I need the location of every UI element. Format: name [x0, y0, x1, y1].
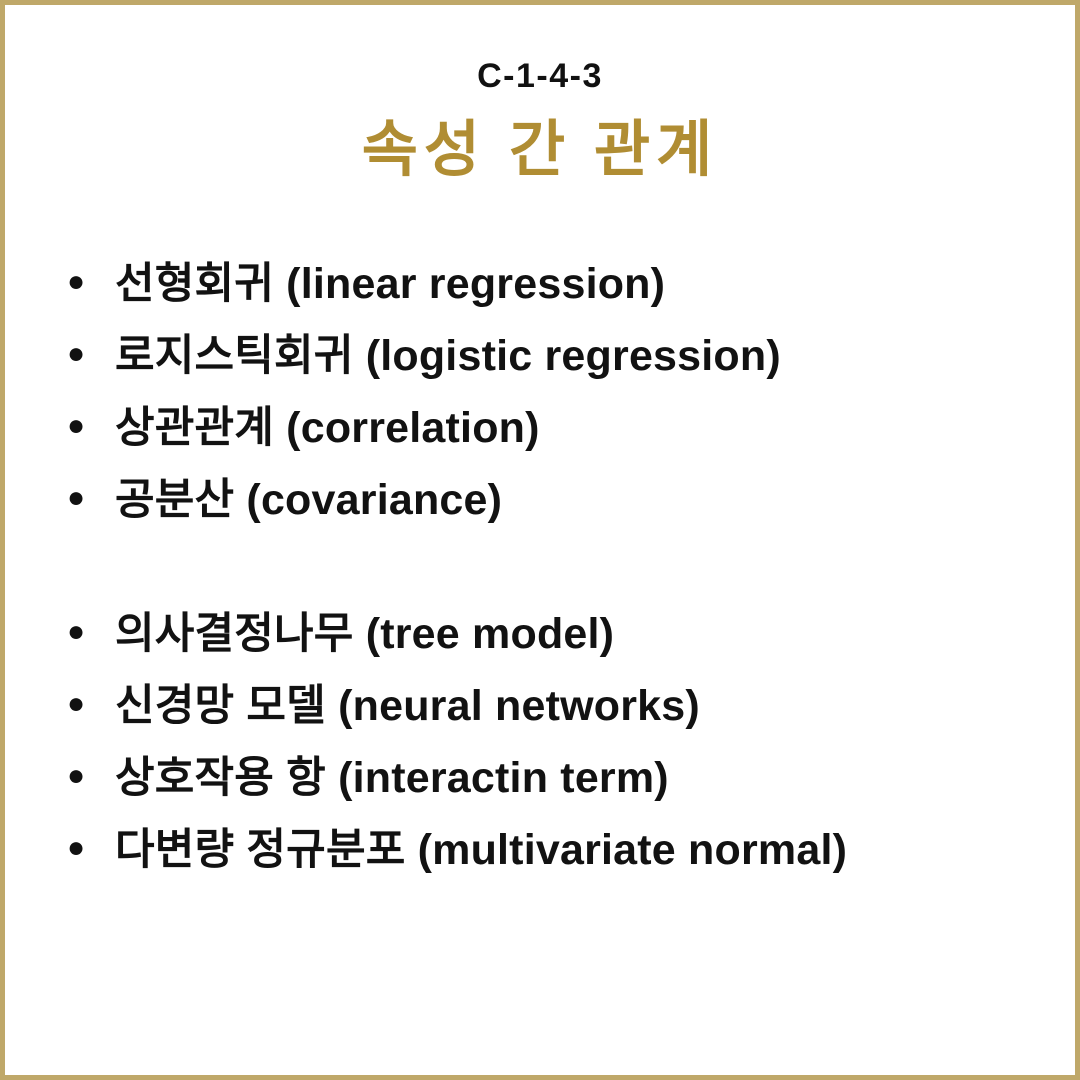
bullet-group-two: ● 의사결정나무 (tree model) ● 신경망 모델 (neural n…: [5, 613, 1080, 901]
list-item-label: 로지스틱회귀 (logistic regression): [115, 335, 781, 378]
slide-body: ● 선형회귀 (linear regression) ● 로지스틱회귀 (log…: [5, 263, 1080, 901]
list-item: ● 의사결정나무 (tree model): [5, 613, 1080, 685]
list-item-label: 신경망 모델 (neural networks): [115, 685, 700, 728]
list-item-label: 선형회귀 (linear regression): [115, 263, 665, 306]
bullet-dot-icon: ●: [67, 411, 115, 441]
list-item: ● 상호작용 항 (interactin term): [5, 757, 1080, 829]
list-item-label: 의사결정나무 (tree model): [115, 613, 614, 656]
bullet-dot-icon: ●: [67, 617, 115, 647]
list-item: ● 신경망 모델 (neural networks): [5, 685, 1080, 757]
list-item: ● 다변량 정규분포 (multivariate normal): [5, 829, 1080, 901]
slide-code-label: C-1-4-3: [5, 59, 1075, 93]
bullet-dot-icon: ●: [67, 483, 115, 513]
page-title: 속성 간 관계: [5, 93, 1075, 181]
list-item: ● 상관관계 (correlation): [5, 407, 1080, 479]
bullet-dot-icon: ●: [67, 339, 115, 369]
bullet-dot-icon: ●: [67, 833, 115, 863]
bullet-group-one: ● 선형회귀 (linear regression) ● 로지스틱회귀 (log…: [5, 263, 1080, 551]
slide-header: C-1-4-3 속성 간 관계: [5, 5, 1075, 181]
list-item: ● 선형회귀 (linear regression): [5, 263, 1080, 335]
list-item: ● 로지스틱회귀 (logistic regression): [5, 335, 1080, 407]
list-item-label: 상관관계 (correlation): [115, 407, 540, 450]
list-item: ● 공분산 (covariance): [5, 479, 1080, 551]
list-item-label: 다변량 정규분포 (multivariate normal): [115, 829, 847, 872]
bullet-dot-icon: ●: [67, 689, 115, 719]
bullet-dot-icon: ●: [67, 267, 115, 297]
bullet-dot-icon: ●: [67, 761, 115, 791]
list-item-label: 공분산 (covariance): [115, 479, 502, 522]
slide-canvas: C-1-4-3 속성 간 관계 ● 선형회귀 (linear regressio…: [0, 0, 1080, 1080]
list-item-label: 상호작용 항 (interactin term): [115, 757, 669, 800]
